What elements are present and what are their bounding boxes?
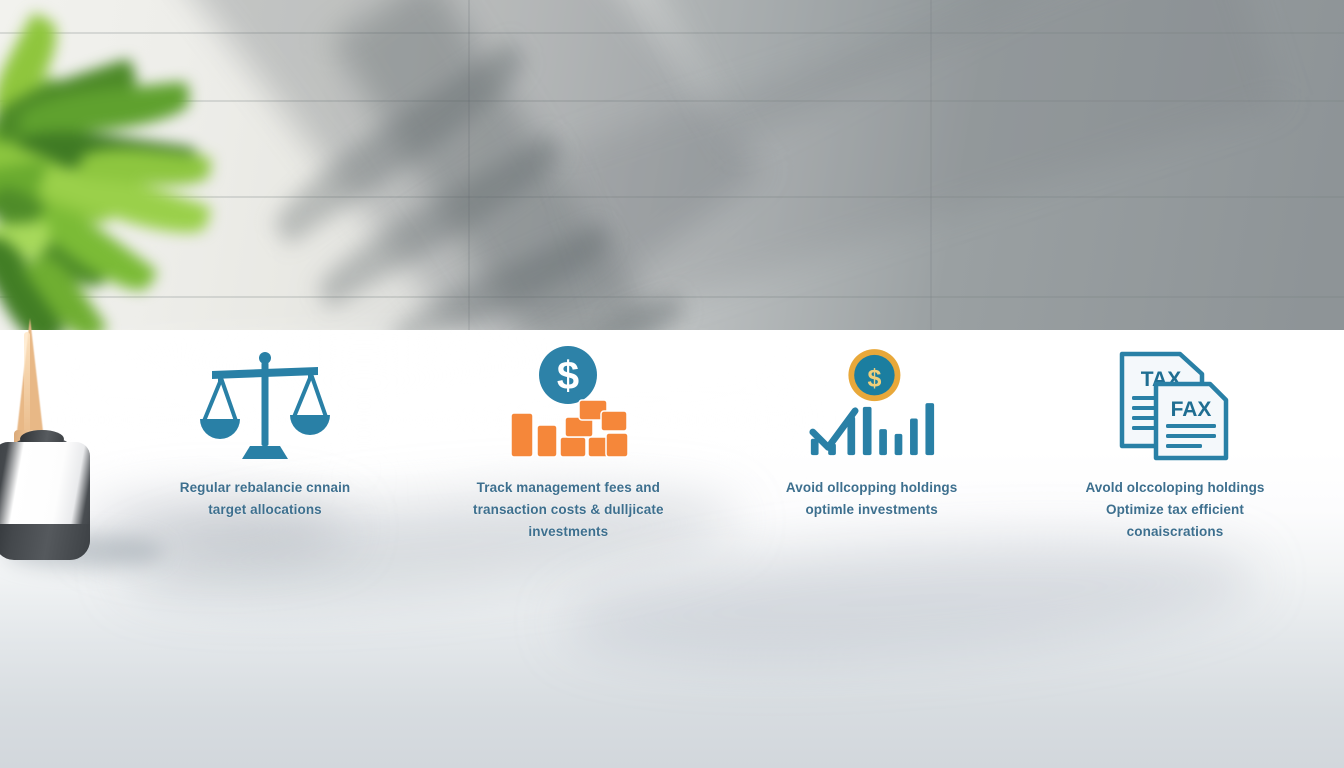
feature-caption: Track management fees and transaction co… (461, 477, 676, 543)
vase-base-band (0, 524, 90, 560)
feature-card-overlapping-holdings[interactable]: $ Avoid ollcopping holdings (747, 345, 997, 521)
feature-caption: Avold olccoloping holdings Optimize tax … (1067, 477, 1282, 543)
svg-text:$: $ (867, 365, 881, 393)
dollar-circle-with-blocks-icon: $ (503, 345, 633, 465)
cone-highlight (24, 332, 30, 436)
caption-line: Avold olccoloping holdings (1067, 477, 1282, 499)
caption-line: transaction costs & dulljicate (461, 499, 676, 521)
caption-line: Avoid ollcopping holdings (764, 477, 979, 499)
gold-coin-bar-chart-icon: $ (807, 345, 937, 465)
ceramic-vase (0, 312, 104, 572)
svg-text:FAX: FAX (1171, 398, 1212, 421)
tax-documents-icon: TAX FAX (1110, 345, 1240, 465)
caption-line: investments (461, 521, 676, 543)
scene-canvas: Regular rebalancie cnnain target allocat… (0, 0, 1344, 768)
caption-line: Regular rebalancie cnnain (158, 477, 373, 499)
feature-caption: Avoid ollcopping holdings optimle invest… (764, 477, 979, 521)
caption-line: target allocations (158, 499, 373, 521)
feature-card-management-fees[interactable]: $ Track management fees and transac (443, 345, 693, 543)
feature-caption: Regular rebalancie cnnain target allocat… (158, 477, 373, 521)
svg-text:$: $ (557, 354, 579, 398)
feature-card-balance-scales[interactable]: Regular rebalancie cnnain target allocat… (140, 345, 390, 521)
caption-line: conaiscrations (1067, 521, 1282, 543)
window-shadow (560, 0, 1281, 321)
wooden-cone (16, 318, 44, 440)
feature-card-tax-documents[interactable]: TAX FAX (1050, 345, 1300, 543)
caption-line: optimle investments (764, 499, 979, 521)
caption-line: Track management fees and (461, 477, 676, 499)
icon-feature-row: Regular rebalancie cnnain target allocat… (140, 345, 1300, 575)
caption-line: Optimize tax efficient (1067, 499, 1282, 521)
balance-scales-icon (200, 345, 330, 465)
